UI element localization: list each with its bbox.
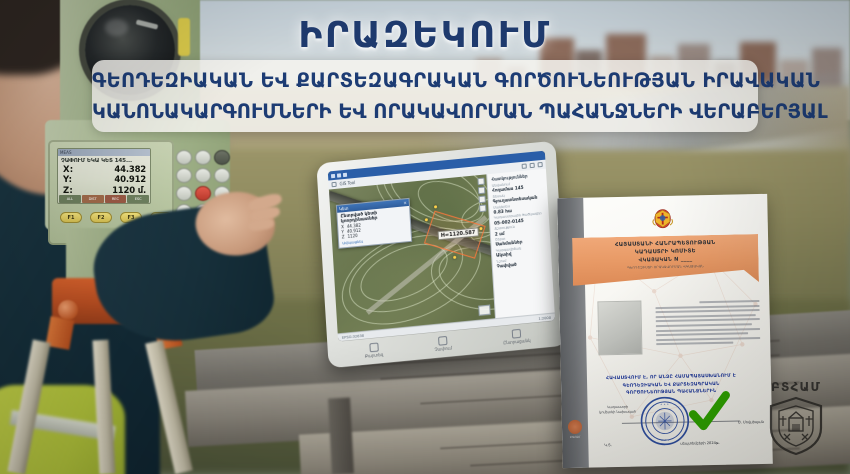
lcd-label-x: X: xyxy=(63,165,73,176)
menu-icon xyxy=(512,328,522,338)
nav-item-map[interactable]: Քարտեզ xyxy=(364,342,383,359)
keypad-key[interactable] xyxy=(214,168,230,183)
spine-logo-icon xyxy=(568,420,582,434)
keypad-key[interactable] xyxy=(176,150,192,165)
shield-emblem-icon xyxy=(768,396,824,456)
lcd-value-y: 40.912 xyxy=(114,175,146,186)
lcd-row-x: X: 44.382 xyxy=(63,165,146,176)
svg-text:★ ★ ★: ★ ★ ★ xyxy=(661,439,671,442)
svg-text:★ ★ ★: ★ ★ ★ xyxy=(660,403,670,406)
lcd-coordinate-list: X: 44.382 Y: 40.912 Z: 1120 մ. xyxy=(58,164,150,197)
toolbar-app-title: GIS Tool xyxy=(339,180,355,187)
locate-icon[interactable] xyxy=(478,196,485,204)
nav-label-map: Քարտեզ xyxy=(365,352,384,359)
softkey-1[interactable]: ALL xyxy=(59,195,81,203)
subtitle-line-2: ԿԱՆՈՆԱԿԱՐԳՈՒՄՆԵՐԻ ԵՎ ՈՐԱԿԱՎՈՐՄԱՆ ՊԱՀԱՆՋՆ… xyxy=(92,96,758,127)
qualification-certificate: ԲՏՀԱՄ ՀԱՅԱՍՏԱՆԻ ՀԱՆՐԱՊԵՏՈՒԹՅԱՆ ԿԱԴԱՍՏՐԻ … xyxy=(557,194,773,468)
softkey-4[interactable]: ESC xyxy=(127,195,149,203)
rugged-tablet[interactable]: GIS Tool xyxy=(316,141,567,369)
lcd-label-y: Y: xyxy=(63,175,72,186)
stamp-note: Կ.Տ. xyxy=(604,443,612,447)
instrument-lcd-screen: MEAS ՉԱՓՈՒՄ ԵԿԱ ԿԵՏ 145... X: 44.382 Y: … xyxy=(57,148,151,204)
popup-close-icon[interactable]: × xyxy=(403,200,407,205)
attributes-panel[interactable]: Հատկություններ Անվանում Հողամաս 145 Տեսա… xyxy=(486,169,555,319)
lcd-job-line: ՉԱՓՈՒՄ ԵԿԱ ԿԵՏ 145... xyxy=(58,156,150,164)
save-icon[interactable] xyxy=(537,162,542,167)
popup-title: Կետ xyxy=(339,206,349,212)
keypad-key[interactable] xyxy=(195,150,211,165)
function-key-f1[interactable]: F1 xyxy=(60,212,82,223)
function-key-f2[interactable]: F2 xyxy=(90,212,112,223)
subtitle-panel: ԳԵՈԴԵԶԻԱԿԱՆ ԵՎ ՔԱՐՏԵԶԱԳՐԱԿԱՆ ԳՈՐԾՈՒՆԵՈՒԹ… xyxy=(92,60,758,132)
page-title: ԻՐԱԶԵԿՈՒՄ xyxy=(0,16,850,56)
keypad-key[interactable] xyxy=(176,186,192,201)
softkey-3[interactable]: REC xyxy=(105,195,127,203)
map-scalebar xyxy=(478,305,491,316)
banner-canvas: MEAS ՉԱՓՈՒՄ ԵԿԱ ԿԵՏ 145... X: 44.382 Y: … xyxy=(0,0,850,474)
measure-icon[interactable] xyxy=(522,163,527,168)
lcd-value-x: 44.382 xyxy=(114,165,146,176)
certificate-photo-placeholder xyxy=(597,300,642,355)
status-crs: EPSG:32638 xyxy=(342,333,364,339)
window-icon xyxy=(343,172,347,176)
coat-of-arms-icon xyxy=(649,205,676,232)
popup-value-z: 1120 xyxy=(347,233,357,239)
keypad-key[interactable] xyxy=(214,150,230,165)
lcd-softkey-bar: ALL DIST REC ESC xyxy=(58,195,150,203)
map-icon xyxy=(369,342,379,352)
subtitle-line-1: ԳԵՈԴԵԶԻԱԿԱՆ ԵՎ ՔԱՐՏԵԶԱԳՐԱԿԱՆ ԳՈՐԾՈՒՆԵՈՒԹ… xyxy=(92,60,758,96)
lcd-window-title: MEAS xyxy=(58,149,150,156)
certificate-statement: ՀԱՎԱՍՏՎՈՒՄ Է, ՈՐ ԱՆՁԸ ՀԱՄԱՊԱՏԱՍԽԱՆՈՒՄ Է … xyxy=(579,372,763,398)
certificate-date: սեպտեմբերի 2024թ. xyxy=(680,441,719,446)
keypad-key[interactable] xyxy=(176,168,192,183)
zoom-in-icon[interactable] xyxy=(477,178,484,186)
gis-application: GIS Tool xyxy=(328,151,555,342)
layers-toggle-icon[interactable] xyxy=(479,205,486,213)
zoom-icon[interactable] xyxy=(530,163,535,168)
coordinate-popup[interactable]: Կետ × Ընտրված կետի կոորդինատներ X 44.382… xyxy=(336,198,412,249)
approved-checkmark-icon xyxy=(685,389,732,436)
window-icon xyxy=(331,173,335,177)
app-body: H=1120.587 Կետ × Ընտրված կետի կոորդինատն… xyxy=(329,169,555,334)
popup-label-z: Z xyxy=(342,234,345,239)
spine-label: ԲՏՀԱՄ xyxy=(566,436,584,440)
layers-icon[interactable] xyxy=(331,182,336,187)
zoom-out-icon[interactable] xyxy=(478,187,485,195)
signatory-title: Կադաստրի կոմիտեի նախագահ xyxy=(590,404,646,414)
official-seal-icon: ★ ★ ★ ★ ★ ★ xyxy=(639,396,690,447)
organization-branding: ԲՏՀԱՄ xyxy=(758,380,834,460)
lcd-row-y: Y: 40.912 xyxy=(63,175,146,186)
ruler-icon xyxy=(438,335,448,345)
nav-label-menu: Ընտրացանկ xyxy=(503,337,530,345)
window-icon xyxy=(337,173,341,177)
certificate-body-text xyxy=(655,300,760,348)
brand-name: ԲՏՀԱՄ xyxy=(758,380,834,394)
softkey-2[interactable]: DIST xyxy=(82,195,104,203)
keypad-key[interactable] xyxy=(195,168,211,183)
spine-branding: ԲՏՀԱՄ xyxy=(566,420,585,446)
status-scale: 1:2000 xyxy=(538,315,551,320)
nav-item-measure[interactable]: Չափում xyxy=(434,335,452,352)
map-canvas[interactable]: H=1120.587 Կետ × Ընտրված կետի կոորդինատն… xyxy=(329,174,495,333)
tablet-screen-bezel: GIS Tool xyxy=(328,151,555,342)
nav-item-menu[interactable]: Ընտրացանկ xyxy=(503,327,531,345)
nav-label-measure: Չափում xyxy=(434,345,452,352)
bench-leg xyxy=(328,397,354,474)
